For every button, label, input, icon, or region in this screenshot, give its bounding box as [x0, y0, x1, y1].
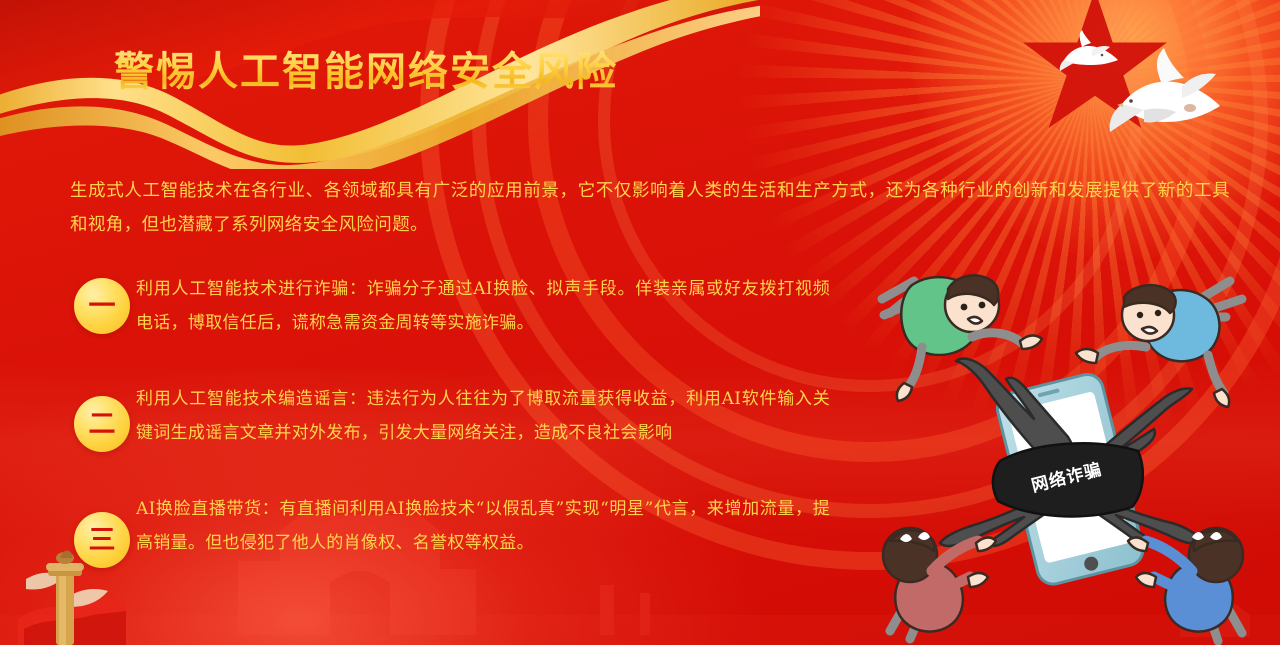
item-text-two: 利用人工智能技术编造谣言：违法行为人往往为了博取流量获得收益，利用AI软件输入关…	[136, 382, 830, 450]
risk-item-3: 三 AI换脸直播带货：有直播间利用AI换脸技术“以假乱真”实现“明星”代言，来增…	[70, 492, 830, 568]
cartoon-victim-maroon-icon	[883, 528, 996, 639]
risk-item-2: 二 利用人工智能技术编造谣言：违法行为人往往为了博取流量获得收益，利用AI软件输…	[70, 382, 830, 458]
item-text-one: 利用人工智能技术进行诈骗：诈骗分子通过AI换脸、拟声手段。佯装亲属或好友拨打视频…	[136, 272, 830, 340]
risk-item-1: 一 利用人工智能技术进行诈骗：诈骗分子通过AI换脸、拟声手段。佯装亲属或好友拨打…	[70, 272, 830, 348]
item-text-three: AI换脸直播带货：有直播间利用AI换脸技术“以假乱真”实现“明星”代言，来增加流…	[136, 492, 830, 560]
fraud-illustration: 网络诈骗	[860, 255, 1270, 645]
page-title: 警惕人工智能网络安全风险	[114, 50, 618, 94]
dove-small-icon	[1058, 30, 1120, 76]
item-badge-one: 一	[74, 278, 130, 334]
poster-canvas: 警惕人工智能网络安全风险 生成式人工智能技术在各行业、各领域都具有广泛的应用前景…	[0, 0, 1280, 645]
item-badge-three: 三	[74, 512, 130, 568]
intro-paragraph: 生成式人工智能技术在各行业、各领域都具有广泛的应用前景，它不仅影响着人类的生活和…	[70, 174, 1230, 242]
cartoon-victim-blue-icon	[1128, 528, 1243, 641]
dove-large-icon	[1104, 46, 1222, 138]
red-star-icon	[1020, 0, 1170, 140]
risk-items-list: 一 利用人工智能技术进行诈骗：诈骗分子通过AI换脸、拟声手段。佯装亲属或好友拨打…	[70, 272, 830, 602]
item-badge-two: 二	[74, 396, 130, 452]
